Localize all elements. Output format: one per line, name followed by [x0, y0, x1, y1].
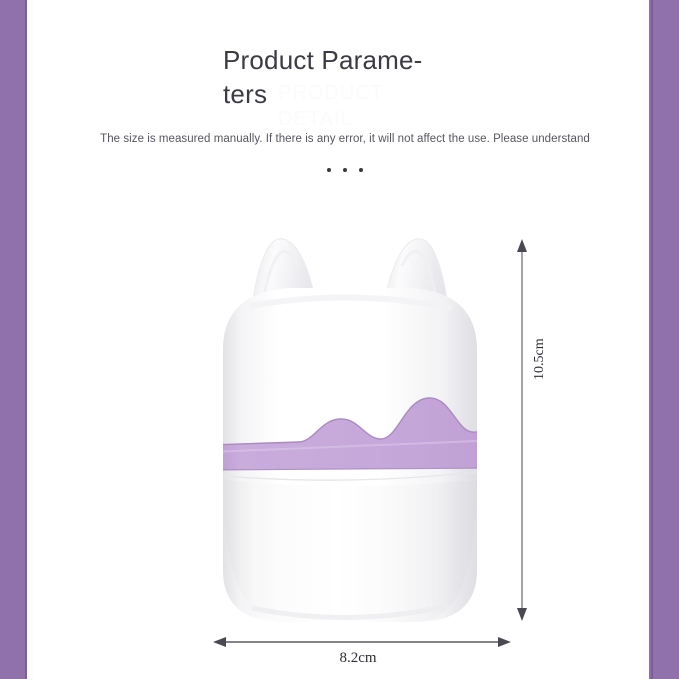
separator-dot: [343, 168, 347, 172]
page-title: Product Parame- ters: [223, 43, 483, 111]
measurement-disclaimer: The size is measured manually. If there …: [95, 131, 595, 147]
separator-dot: [359, 168, 363, 172]
product-image: [190, 230, 510, 630]
content-canvas: PRODUCT DETAIL Product Parame- ters The …: [33, 0, 643, 679]
height-dimension-label: 10.5cm: [532, 338, 548, 380]
right-accent-rule: [651, 0, 653, 679]
product-body: [210, 288, 502, 622]
height-dimension-arrow: [488, 235, 558, 630]
left-accent-band: [0, 0, 25, 679]
product-parameters-page: PRODUCT DETAIL Product Parame- ters The …: [0, 0, 679, 679]
width-dimension-label: 8.2cm: [215, 650, 501, 667]
separator-dot: [327, 168, 331, 172]
separator-dots: [95, 168, 595, 172]
right-inner-gap: [643, 0, 649, 679]
width-dimension-arrow: [183, 630, 523, 650]
